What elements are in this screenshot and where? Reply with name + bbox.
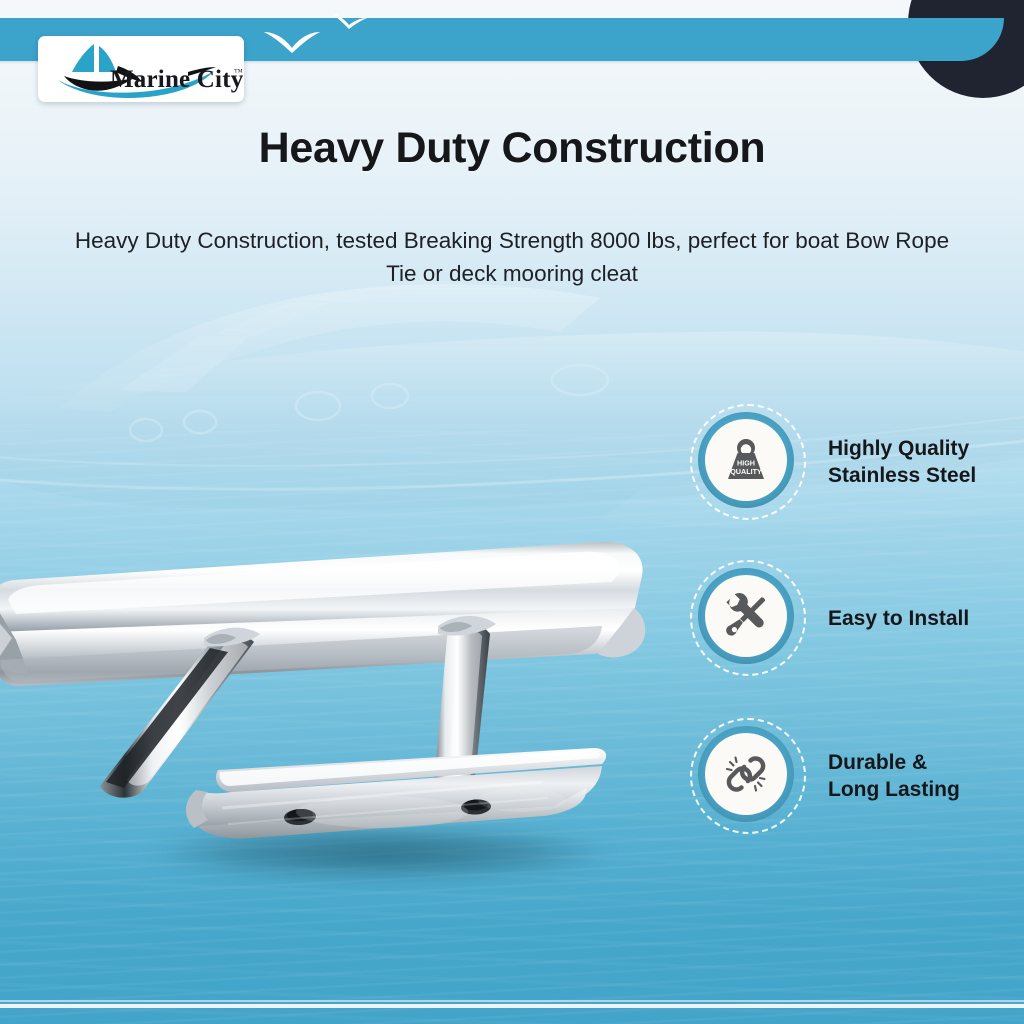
feature-label: Highly Quality Stainless Steel: [828, 435, 976, 489]
brand-logo-text: Marine City: [110, 66, 243, 94]
feature-item-durable[interactable]: Durable & Long Lasting: [690, 718, 1020, 834]
feature-item-easy-install[interactable]: Easy to Install: [690, 560, 1020, 676]
page-title: Heavy Duty Construction: [0, 124, 1024, 173]
product-infographic: Marine City ™ Heavy Duty Construction He…: [0, 0, 1024, 1024]
feature-badge: HIGH QUALITY: [690, 404, 806, 520]
weight-icon-label-line2: QUALITY: [730, 467, 762, 476]
bottom-separator-highlight: [0, 1000, 1024, 1002]
feature-badge: [690, 718, 806, 834]
weight-icon: HIGH QUALITY: [720, 434, 772, 486]
trademark-symbol: ™: [234, 67, 243, 77]
feature-label: Durable & Long Lasting: [828, 749, 960, 803]
bottom-separator-line: [0, 1004, 1024, 1008]
brand-logo-card[interactable]: Marine City ™: [38, 36, 244, 102]
stainless-steel-boat-cleat: [0, 520, 702, 860]
tools-icon: [721, 591, 771, 641]
badge-inner-circle: HIGH QUALITY: [705, 419, 787, 501]
feature-badge: [690, 560, 806, 676]
chain-link-icon: [721, 749, 771, 799]
page-subtitle: Heavy Duty Construction, tested Breaking…: [72, 224, 952, 290]
feature-label: Easy to Install: [828, 605, 969, 632]
badge-inner-circle: [705, 575, 787, 657]
feature-item-high-quality[interactable]: HIGH QUALITY Highly Quality Stainless St…: [690, 404, 1020, 520]
badge-inner-circle: [705, 733, 787, 815]
